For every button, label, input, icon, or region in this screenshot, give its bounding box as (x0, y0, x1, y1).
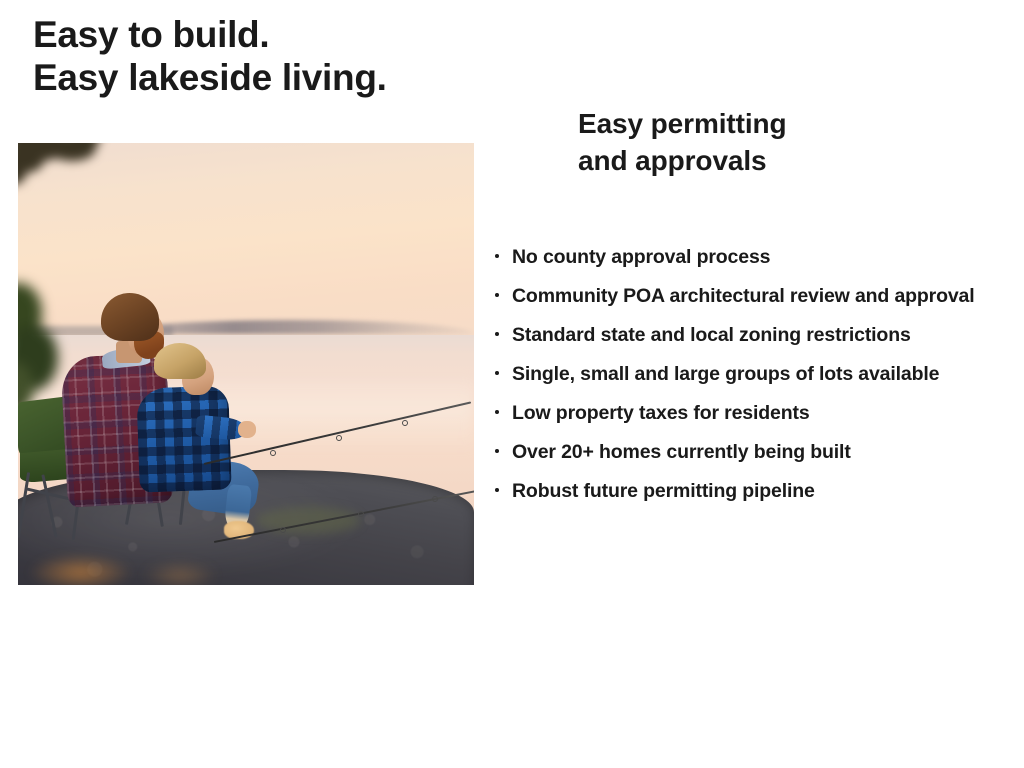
lakeside-fishing-photo (18, 143, 474, 585)
rod-guide (432, 496, 438, 502)
boy-figure (138, 343, 268, 533)
list-item: Single, small and large groups of lots a… (489, 360, 1021, 388)
man-hair (101, 293, 159, 341)
list-item: Low property taxes for residents (489, 399, 1021, 427)
benefits-bullet-list: No county approval process Community POA… (489, 243, 1021, 516)
rock-sun-glow (28, 554, 132, 585)
boy-plaid-shirt (136, 385, 232, 492)
boy-hand (238, 421, 256, 438)
rod-guide (336, 435, 342, 441)
boy-hair (154, 343, 206, 379)
list-item: Standard state and local zoning restrict… (489, 321, 1021, 349)
list-item: Over 20+ homes currently being built (489, 438, 1021, 466)
list-item: No county approval process (489, 243, 1021, 271)
rod-guide (402, 420, 408, 426)
rod-guide (280, 527, 286, 533)
section-heading: Easy permitting and approvals (578, 106, 998, 180)
list-item: Community POA architectural review and a… (489, 282, 1021, 310)
list-item: Robust future permitting pipeline (489, 477, 1021, 505)
photo-canvas (18, 143, 474, 585)
rod-guide (358, 511, 364, 517)
rod-guide (270, 450, 276, 456)
slide-title: Easy to build. Easy lakeside living. (33, 13, 493, 100)
foliage-top-left (18, 143, 134, 248)
rock-sun-glow-secondary (142, 562, 218, 585)
slide: Easy to build. Easy lakeside living. (0, 0, 1024, 768)
